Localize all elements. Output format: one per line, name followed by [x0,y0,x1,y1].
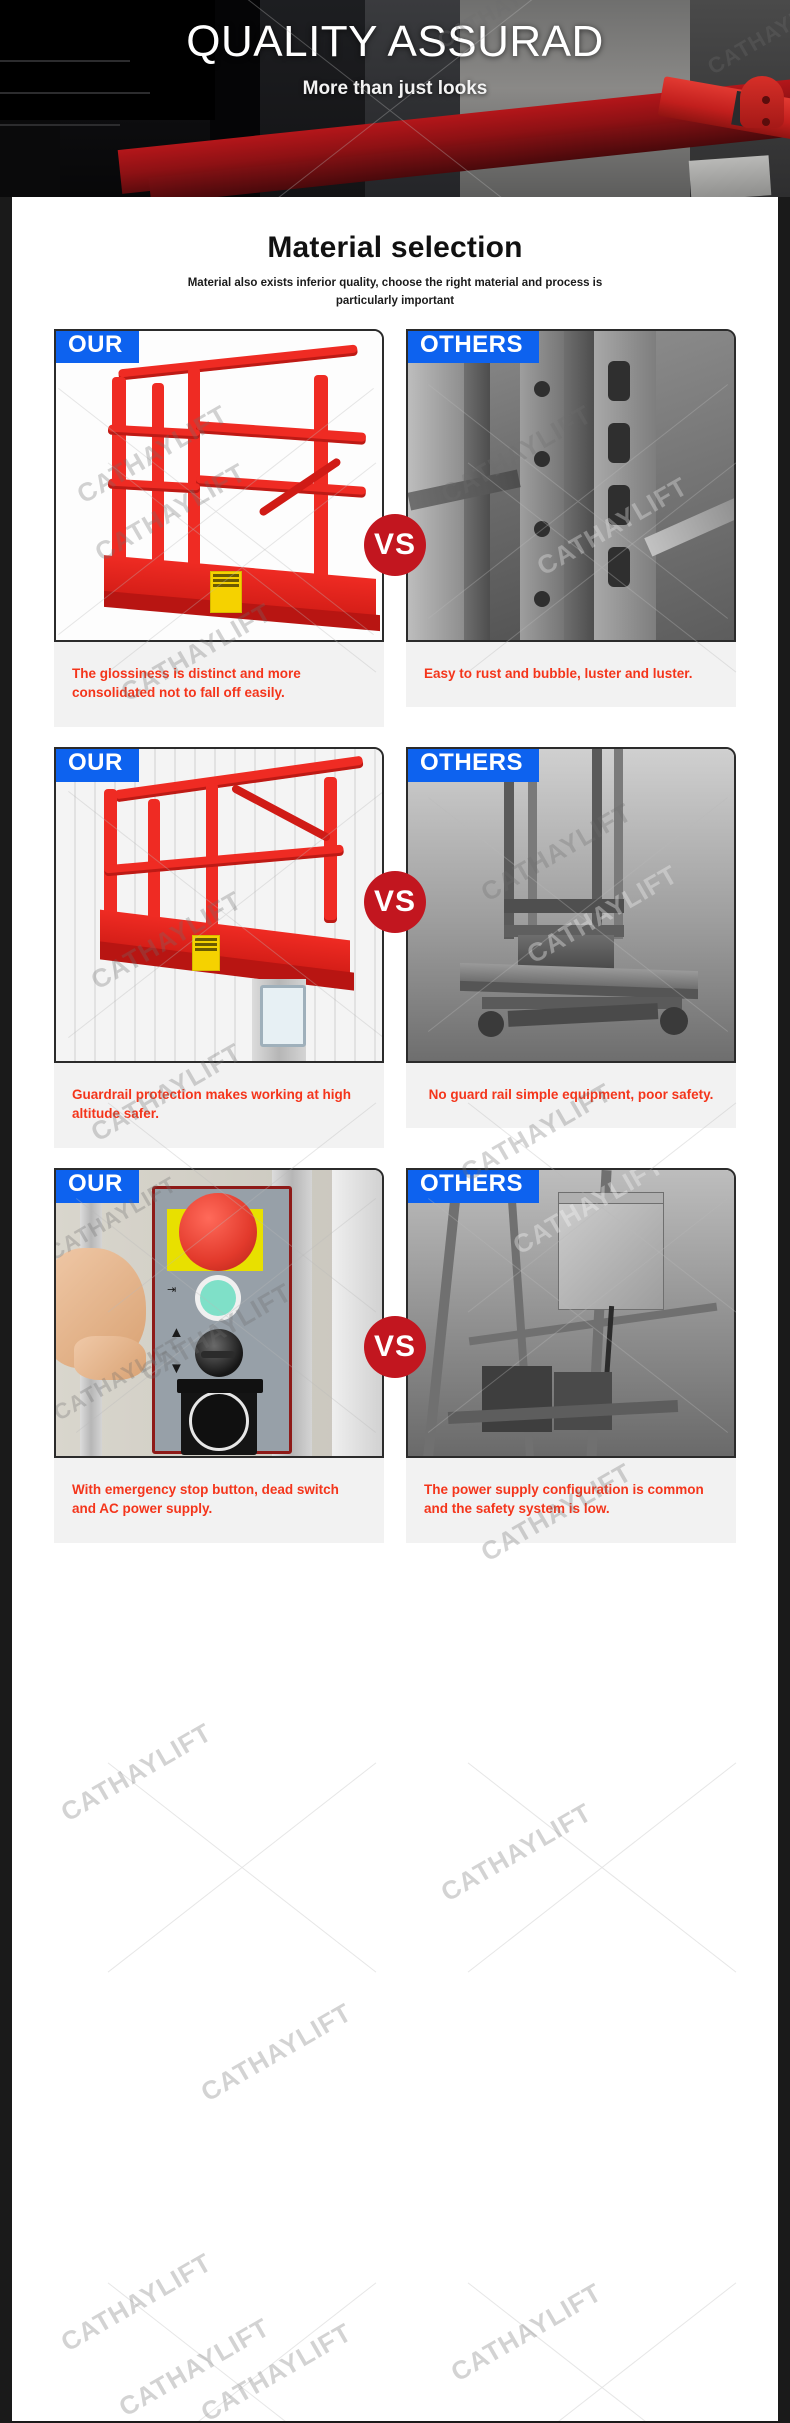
our-badge: OUR [54,329,139,364]
comparison-our-column: OUR CATHAYLIFT Guardrail protection make… [54,747,384,1148]
our-product-photo[interactable]: OUR CATHAYLIFT [54,329,384,642]
others-caption: The power supply configuration is common… [406,1458,736,1543]
silver-bracket [689,155,772,197]
battery [482,1366,552,1432]
our-caption: With emergency stop button, dead switch … [54,1458,384,1543]
control-panel[interactable]: ⇥ ▲ ▼ [152,1186,292,1454]
vs-badge: VS [364,1316,426,1378]
watermark-text: CATHAYLIFT [196,2317,358,2421]
others-badge: OTHERS [406,329,539,364]
down-arrow-icon: ▼ [169,1361,184,1376]
comparison-our-column: OUR CATHAYLIFT The glossiness is distinc… [54,329,384,727]
others-product-photo[interactable]: OTHERS CATHAYLIFT [406,329,736,642]
hero-subtitle: More than just looks [0,78,790,100]
vs-badge: VS [364,871,426,933]
comparison-others-column: OTHERS CATHAYLIFT The power supply confi… [406,1168,736,1543]
up-arrow-icon: ▲ [169,1325,184,1340]
warning-sticker [192,935,220,971]
selector-knob[interactable] [195,1329,243,1377]
section-title: Material selection [12,197,778,265]
watermark-text: CATHAYLIFT [196,1997,358,2108]
emergency-stop-button[interactable] [179,1193,257,1271]
comparison-row: VS OUR CATHAY [12,747,778,1148]
our-product-photo[interactable]: OUR CATHAYLIFT [54,747,384,1063]
hero-title: QUALITY ASSURAD [0,18,790,66]
comparison-rows: VS [12,329,778,1543]
comparison-row: VS ⇥ ▲ ▼ [12,1168,778,1543]
ac-power-socket[interactable] [181,1387,257,1455]
watermark-text: CATHAYLIFT [436,1797,598,1908]
watermark-text: CATHAYLIFT [56,1717,218,1828]
content-card: Material selection Material also exists … [12,197,778,2421]
others-caption: No guard rail simple equipment, poor saf… [406,1063,736,1129]
comparison-others-column: OTHERS CATHAYLIFT No guard rail simple e… [406,747,736,1148]
others-badge: OTHERS [406,747,539,782]
grey-control-box [558,1192,664,1310]
comparison-row: VS [12,329,778,727]
comparison-others-column: OTHERS CATHAYLIFT Easy to rust and bubbl… [406,329,736,727]
others-product-photo[interactable]: OTHERS CATHAYLIFT [406,747,736,1063]
watermark-text: CATHAYLIFT [56,2247,218,2358]
warning-sticker [210,571,242,613]
hero-banner: QUALITY ASSURAD More than just looks CAT… [0,0,790,197]
vs-badge: VS [364,514,426,576]
comparison-our-column: ⇥ ▲ ▼ OUR CATHAYLIFT CATHAYLIFT With eme… [54,1168,384,1543]
others-badge: OTHERS [406,1168,539,1203]
our-product-photo[interactable]: ⇥ ▲ ▼ OUR CATHAYLIFT CATHAYLIFT [54,1168,384,1458]
our-caption: The glossiness is distinct and more cons… [54,642,384,727]
watermark-text: CATHAYLIFT [446,2277,608,2388]
green-start-button[interactable] [195,1275,241,1321]
our-badge: OUR [54,1168,139,1203]
control-panel [260,985,306,1047]
others-caption: Easy to rust and bubble, luster and lust… [406,642,736,708]
section-description: Material also exists inferior quality, c… [180,275,610,311]
our-badge: OUR [54,747,139,782]
our-caption: Guardrail protection makes working at hi… [54,1063,384,1148]
others-product-photo[interactable]: OTHERS CATHAYLIFT [406,1168,736,1458]
